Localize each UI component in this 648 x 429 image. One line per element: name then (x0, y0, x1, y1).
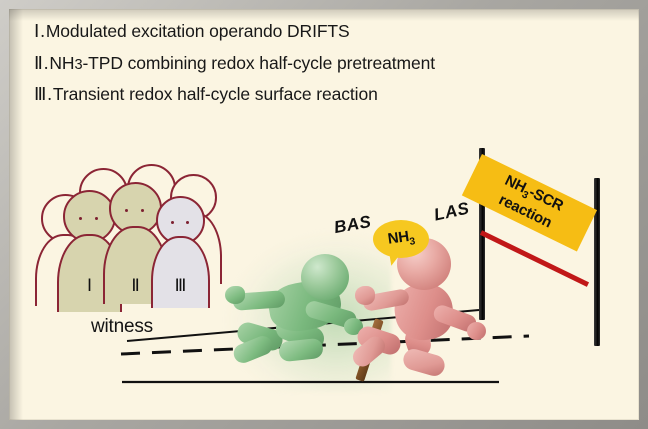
heading-subscript-2: 3 (74, 58, 82, 73)
heading-line-3: Ⅲ . Transient redox half-cycle surface r… (34, 85, 624, 104)
heading-line-1: Ⅰ . Modulated excitation operando DRIFTS (34, 22, 624, 41)
runner-bas-head (301, 254, 349, 300)
heading-numeral-2: Ⅱ (34, 54, 43, 72)
runner-las-front-shin (401, 347, 447, 379)
nh3-bubble-text: NH3 (387, 227, 416, 250)
runner-bas (231, 240, 361, 370)
illustration-stage: Ⅰ Ⅱ Ⅲ witne (9, 140, 639, 420)
heading-numeral-3: Ⅲ (34, 85, 46, 103)
heading-separator-1: . (40, 22, 45, 40)
runner-bas-rear-shin (231, 333, 275, 366)
heading-text-3: Transient redox half-cycle surface react… (53, 86, 378, 104)
runner-las-receiving-hand (355, 286, 375, 305)
figure-root: Ⅰ . Modulated excitation operando DRIFTS… (0, 0, 648, 429)
heading-text-2a: NH (49, 55, 74, 73)
heading-numeral-1: Ⅰ (34, 22, 39, 40)
runner-las (357, 230, 497, 380)
nh3-speech-bubble: NH3 (373, 220, 429, 258)
runner-bas-front-shin (278, 338, 324, 362)
heading-line-2: Ⅱ . NH3-TPD combining redox half-cycle p… (34, 54, 624, 73)
heading-list: Ⅰ . Modulated excitation operando DRIFTS… (34, 22, 624, 117)
heading-text-1: Modulated excitation operando DRIFTS (46, 23, 350, 41)
runner-las-front-hand (467, 322, 486, 340)
heading-separator-2: . (44, 54, 49, 72)
finish-pole-right (594, 178, 600, 346)
heading-text-2b: -TPD combining redox half-cycle pretreat… (82, 55, 435, 73)
runner-bas-back-hand (225, 286, 245, 304)
heading-separator-3: . (47, 85, 52, 103)
